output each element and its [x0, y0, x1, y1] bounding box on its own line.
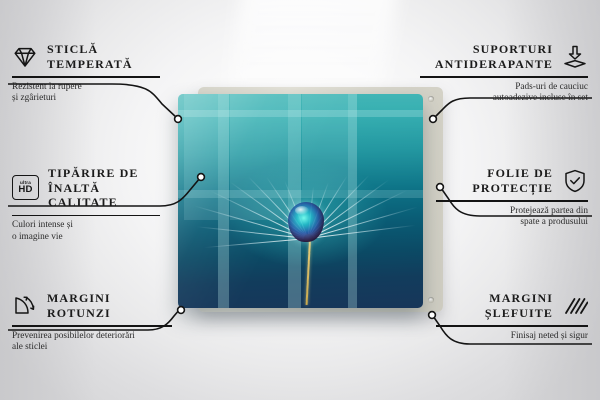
feature-protective-film[interactable]: FOLIE DE PROTECȚIE Protejează partea din… [436, 166, 588, 229]
glass-sheen [178, 94, 423, 308]
diamond-icon [12, 44, 38, 70]
divider [420, 76, 588, 78]
rounded-corner-icon [12, 293, 38, 319]
diagonal-lines-icon [562, 293, 588, 319]
glass-panel [178, 94, 423, 308]
feature-desc: Rezistent la rupere și zgârieturi [12, 82, 160, 105]
divider [12, 76, 160, 78]
feature-tempered-glass[interactable]: STICLĂ TEMPERATĂ Rezistent la rupere și … [12, 42, 160, 105]
feature-polished-edges[interactable]: MARGINI ȘLEFUITE Finisaj neted și sigur [436, 291, 588, 342]
feature-title: STICLĂ TEMPERATĂ [47, 42, 133, 71]
ultra-hd-icon: ultraHD [12, 175, 39, 200]
divider [436, 200, 588, 202]
feature-title: SUPORTURI ANTIDERAPANTE [435, 42, 553, 71]
feature-desc: Pads-uri de cauciuc autoadezive incluse … [420, 82, 588, 105]
product-image [178, 88, 440, 314]
feature-desc: Culori intense și o imagine vie [12, 220, 160, 243]
feature-desc: Prevenirea posibilelor deteriorări ale s… [12, 331, 172, 354]
feature-title: FOLIE DE PROTECȚIE [472, 166, 553, 195]
divider [12, 215, 160, 217]
infographic-canvas: STICLĂ TEMPERATĂ Rezistent la rupere și … [0, 0, 600, 400]
mounting-hole [428, 297, 434, 303]
divider [12, 325, 172, 327]
feature-anti-slip-pads[interactable]: SUPORTURI ANTIDERAPANTE Pads-uri de cauc… [420, 42, 588, 105]
feature-title: TIPĂRIRE DE ÎNALTĂ CALITATE [48, 166, 160, 210]
feature-desc: Finisaj neted și sigur [436, 331, 588, 343]
feature-hd-print[interactable]: ultraHD TIPĂRIRE DE ÎNALTĂ CALITATE Culo… [12, 166, 160, 243]
feature-title: MARGINI ȘLEFUITE [485, 291, 553, 320]
feature-desc: Protejează partea din spate a produsului [436, 206, 588, 229]
divider [436, 325, 588, 327]
shield-check-icon [562, 168, 588, 194]
feature-rounded-edges[interactable]: MARGINI ROTUNZI Prevenirea posibilelor d… [12, 291, 172, 354]
press-pad-icon [562, 44, 588, 70]
feature-title: MARGINI ROTUNZI [47, 291, 111, 320]
